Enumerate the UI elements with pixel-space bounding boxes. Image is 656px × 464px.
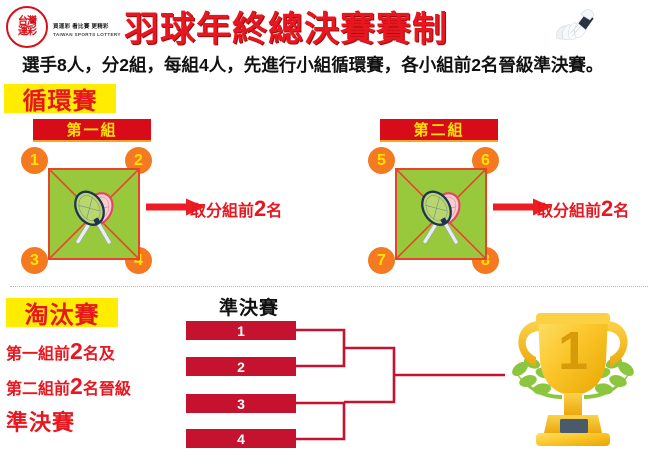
brand-text: 買運彩 看比賽 更精彩 TAIWAN SPORTS LOTTERY <box>53 18 121 37</box>
stamp-line-2: 運彩 <box>18 27 36 38</box>
group-2-player-7: 7 <box>369 248 394 273</box>
group-1-court-icon <box>48 168 140 260</box>
knockout-note-1-post: 名及 <box>83 340 115 364</box>
group-1-advance-suffix: 名 <box>266 197 282 221</box>
knockout-note-line-1: 第一組前 2 名及 <box>6 340 115 364</box>
section-divider <box>10 286 648 287</box>
knockout-note-line-2: 第二組前 2 名晉級 <box>6 375 131 399</box>
knockout-note-1-pre: 第一組前 <box>6 340 70 364</box>
bracket-connector-lines <box>290 312 520 460</box>
knockout-note-2-num: 2 <box>70 375 83 398</box>
group-1-advance-text: 取分組前 2 名 <box>190 197 282 221</box>
group-1-advance-prefix: 取分組前 <box>190 197 254 221</box>
brand-logo: 台灣 運彩 買運彩 看比賽 更精彩 TAIWAN SPORTS LOTTERY <box>6 6 121 48</box>
group-2-advance-prefix: 取分組前 <box>537 197 601 221</box>
lottery-stamp-icon: 台灣 運彩 <box>6 6 48 48</box>
trophy-rank-number: 1 <box>558 321 588 381</box>
infographic-canvas: 台灣 運彩 買運彩 看比賽 更精彩 TAIWAN SPORTS LOTTERY … <box>0 0 656 464</box>
bracket-seed-3: 3 <box>186 394 296 413</box>
group-2-advance-suffix: 名 <box>613 197 629 221</box>
group-1-player-3: 3 <box>22 248 47 273</box>
group-2-advance-text: 取分組前 2 名 <box>537 197 629 221</box>
bracket-title: 準決賽 <box>219 293 279 320</box>
brand-slogan-cn: 買運彩 看比賽 更精彩 <box>53 22 121 30</box>
group-1-advance-number: 2 <box>254 198 266 220</box>
knockout-note-line-3: 準決賽 <box>6 405 75 437</box>
section-tag-knockout: 淘汰賽 <box>6 298 118 327</box>
bracket-seed-1: 1 <box>186 321 296 340</box>
bracket-seed-2: 2 <box>186 357 296 376</box>
knockout-note-1-num: 2 <box>70 340 83 363</box>
trophy-icon: 1 <box>492 303 652 461</box>
section-tag-round-robin: 循環賽 <box>4 84 116 113</box>
knockout-note-2-pre: 第二組前 <box>6 375 70 399</box>
knockout-note-2-post: 名晉級 <box>83 375 131 399</box>
shuttlecock-icon <box>548 8 600 44</box>
group-2-advance-number: 2 <box>601 198 613 220</box>
group-1-banner: 第一組 <box>33 119 151 142</box>
group-2-banner: 第二組 <box>380 119 498 142</box>
bracket-seed-4: 4 <box>186 429 296 448</box>
group-1-player-1: 1 <box>22 148 47 173</box>
brand-name-en: TAIWAN SPORTS LOTTERY <box>53 32 121 37</box>
group-2-court-icon <box>395 168 487 260</box>
page-title: 羽球年終總決賽賽制 <box>124 1 448 52</box>
group-2-player-5: 5 <box>369 148 394 173</box>
page-subtitle: 選手8人，分2組，每組4人，先進行小組循環賽，各小組前2名晉級準決賽。 <box>22 52 603 77</box>
